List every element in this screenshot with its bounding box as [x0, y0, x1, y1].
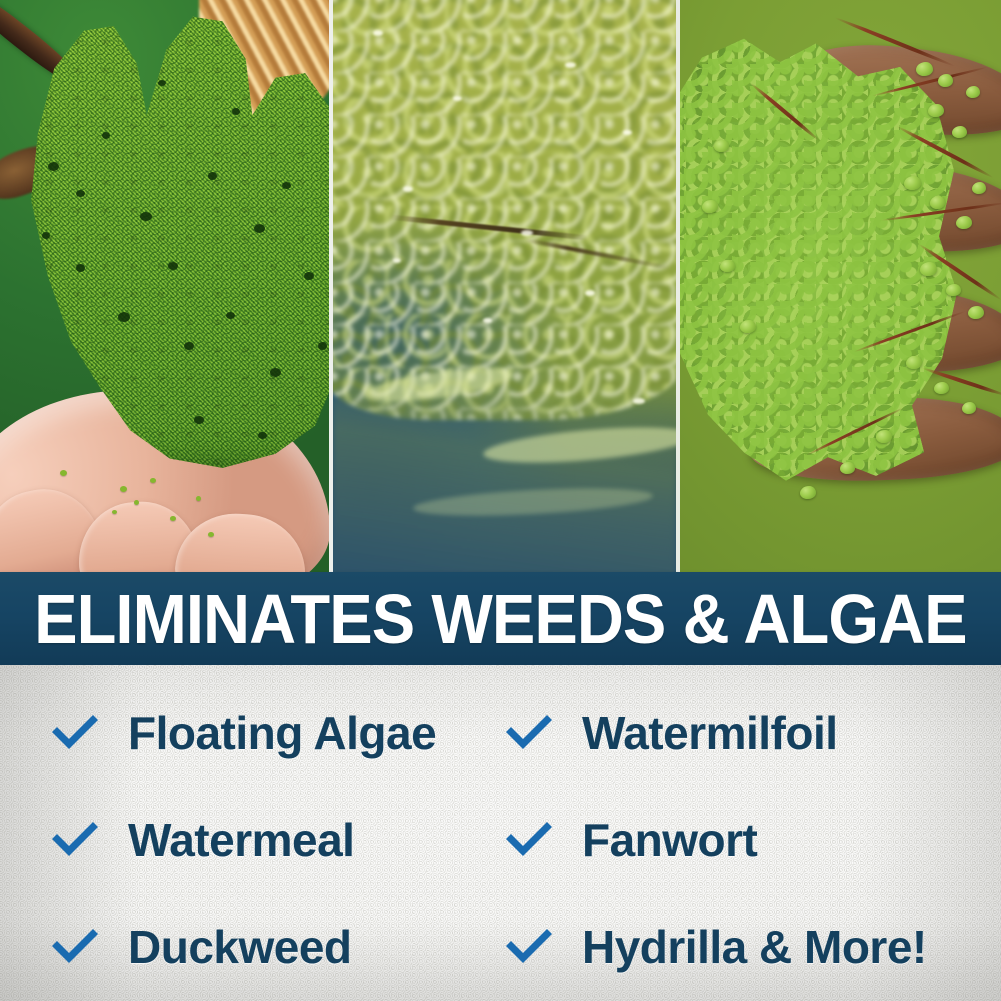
water-sparkles	[333, 0, 676, 572]
checklist-item-hydrilla-and-more: Hydrilla & More!	[485, 920, 1001, 974]
loose-watermeal-crumbs	[0, 0, 329, 572]
checklist-item-duckweed: Duckweed	[0, 920, 485, 974]
photo-strip	[0, 0, 1001, 572]
checklist-item-label: Fanwort	[582, 817, 757, 863]
checkmark-icon	[502, 813, 556, 867]
weed-checklist-section: Floating Algae Watermilfoil Watermeal F	[0, 665, 1001, 1001]
checklist-item-watermeal: Watermeal	[0, 813, 485, 867]
checklist-item-watermilfoil: Watermilfoil	[485, 706, 1001, 760]
photo-duckweed-in-hand	[680, 0, 1001, 572]
checkmark-icon	[48, 813, 102, 867]
checklist-item-label: Watermeal	[128, 817, 354, 863]
checkmark-icon	[502, 920, 556, 974]
checkmark-icon	[502, 706, 556, 760]
weed-checklist: Floating Algae Watermilfoil Watermeal F	[0, 665, 1001, 1001]
photo-floating-algae-on-water	[333, 0, 676, 572]
photo-watermeal-mat-in-hand	[0, 0, 329, 572]
checklist-item-fanwort: Fanwort	[485, 813, 1001, 867]
headline-text: ELIMINATES WEEDS & ALGAE	[25, 584, 976, 654]
checkmark-icon	[48, 706, 102, 760]
checklist-item-label: Duckweed	[128, 924, 352, 970]
checklist-item-label: Floating Algae	[128, 710, 436, 756]
checklist-item-label: Watermilfoil	[582, 710, 838, 756]
checklist-item-floating-algae: Floating Algae	[0, 706, 485, 760]
product-feature-graphic: ELIMINATES WEEDS & ALGAE Floating Algae …	[0, 0, 1001, 1001]
headline-banner: ELIMINATES WEEDS & ALGAE	[0, 572, 1001, 665]
duckweed-fronds	[680, 0, 1001, 572]
checklist-item-label: Hydrilla & More!	[582, 924, 927, 970]
checkmark-icon	[48, 920, 102, 974]
